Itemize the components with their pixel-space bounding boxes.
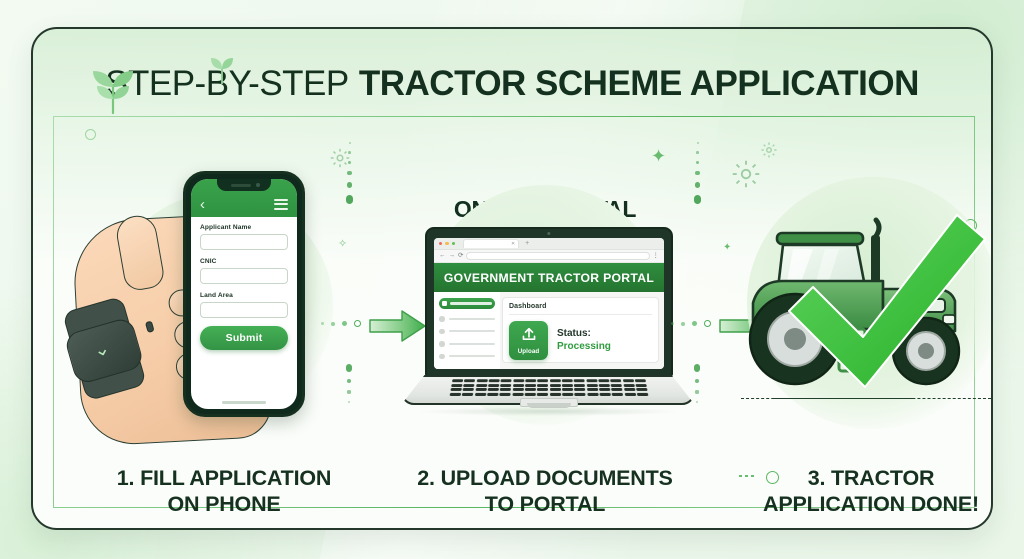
field-label-land-area: Land Area xyxy=(200,292,288,299)
page-title: STEP-BY-STEP TRACTOR SCHEME APPLICATION xyxy=(33,64,991,104)
arrow-1-dots xyxy=(321,320,361,327)
applicant-name-input[interactable] xyxy=(200,234,288,250)
tractor-icon xyxy=(721,191,993,401)
step-2-caption: 2. UPLOAD DOCUMENTS TO PORTAL xyxy=(380,465,710,517)
browser-tab[interactable]: ✕ xyxy=(463,239,519,248)
status-badge: Processing xyxy=(557,341,611,353)
decor-ring-small xyxy=(85,129,96,140)
dashboard-title: Dashboard xyxy=(509,303,652,310)
thumb-illustration xyxy=(114,213,166,293)
ground-solid-line xyxy=(773,398,913,399)
plus-icon[interactable]: + xyxy=(525,240,529,247)
dashboard-divider xyxy=(509,314,652,315)
tractor-scene xyxy=(721,191,993,421)
dashboard-panel: Dashboard xyxy=(502,297,659,363)
arrow-2-dots xyxy=(671,320,711,327)
reload-icon[interactable]: ⟳ xyxy=(458,253,463,260)
step-2-caption-line1: 2. UPLOAD DOCUMENTS xyxy=(380,465,710,491)
land-area-input[interactable] xyxy=(200,302,288,318)
traffic-light-red[interactable] xyxy=(439,242,442,245)
sidebar-item-3[interactable] xyxy=(439,329,495,335)
traffic-light-green[interactable] xyxy=(452,242,455,245)
arrow-left-icon[interactable]: ← xyxy=(439,253,446,260)
portal-header-title: GOVERNMENT TRACTOR PORTAL xyxy=(434,263,664,292)
address-input[interactable] xyxy=(466,252,649,260)
step-1-illustration: ⌄ ‹ Applicant Name CNIC xyxy=(71,157,371,447)
phone-home-indicator xyxy=(222,401,266,404)
field-label-cnic: CNIC xyxy=(200,258,288,265)
portal-body: Dashboard xyxy=(434,292,664,369)
step-1-caption-line2: ON PHONE xyxy=(59,491,389,517)
phone-notch xyxy=(217,179,271,191)
infographic-card: STEP-BY-STEP TRACTOR SCHEME APPLICATION xyxy=(31,27,993,530)
step-3-caption-line2: APPLICATION DONE! xyxy=(706,491,993,517)
smartphone-device: ‹ Applicant Name CNIC Land Area Submit xyxy=(183,171,305,417)
arrow-right-icon[interactable]: → xyxy=(449,253,456,260)
step-2-caption-line2: TO PORTAL xyxy=(380,491,710,517)
phone-screen: ‹ Applicant Name CNIC Land Area Submit xyxy=(191,179,297,409)
step-3-caption: 3. TRACTOR APPLICATION DONE! xyxy=(706,465,993,517)
sidebar-item-active[interactable] xyxy=(439,298,495,309)
sidebar-item-5[interactable] xyxy=(439,354,495,360)
sidebar-item-2[interactable] xyxy=(439,316,495,322)
chevron-left-icon[interactable]: ‹ xyxy=(200,197,205,212)
webcam-icon xyxy=(547,232,550,235)
traffic-light-yellow[interactable] xyxy=(445,242,448,245)
upload-button-label: Upload xyxy=(518,348,540,355)
page-title-light: STEP-BY-STEP xyxy=(105,64,349,103)
portal-sidebar xyxy=(434,292,500,369)
application-form: Applicant Name CNIC Land Area Submit xyxy=(191,217,297,350)
upload-button[interactable]: Upload xyxy=(509,321,548,360)
page-title-bold: TRACTOR SCHEME APPLICATION xyxy=(359,64,919,103)
upload-arrow-icon xyxy=(521,327,537,347)
laptop-device: ✕ + ← → ⟳ ⋮ GOVERNMENT TRACTOR PORTAL xyxy=(401,227,695,427)
status-block: Status: Processing xyxy=(557,328,611,352)
step-3-illustration xyxy=(721,157,993,447)
step-2-illustration: ✕ + ← → ⟳ ⋮ GOVERNMENT TRACTOR PORTAL xyxy=(395,157,695,447)
cnic-input[interactable] xyxy=(200,268,288,284)
laptop-keyboard xyxy=(450,379,649,396)
laptop-screen: ✕ + ← → ⟳ ⋮ GOVERNMENT TRACTOR PORTAL xyxy=(434,238,664,369)
kebab-menu-icon[interactable]: ⋮ xyxy=(653,253,660,260)
sidebar-item-4[interactable] xyxy=(439,341,495,347)
field-label-applicant-name: Applicant Name xyxy=(200,224,288,231)
step-1-caption-line1: 1. FILL APPLICATION xyxy=(59,465,389,491)
status-label: Status: xyxy=(557,328,611,340)
dashboard-content-row: Upload Status: Processing xyxy=(509,321,652,360)
submit-button[interactable]: Submit xyxy=(200,326,288,350)
browser-address-bar: ← → ⟳ ⋮ xyxy=(434,250,664,263)
laptop-lid: ✕ + ← → ⟳ ⋮ GOVERNMENT TRACTOR PORTAL xyxy=(425,227,673,377)
watch-hands: ⌄ xyxy=(91,339,112,362)
close-icon[interactable]: ✕ xyxy=(511,242,515,247)
laptop-shadow xyxy=(419,407,677,416)
dot-column-right xyxy=(694,142,701,204)
step-3-caption-line1: 3. TRACTOR xyxy=(706,465,993,491)
browser-titlebar: ✕ + xyxy=(434,238,664,250)
hamburger-menu-icon[interactable] xyxy=(274,199,288,210)
step-1-caption: 1. FILL APPLICATION ON PHONE xyxy=(59,465,389,517)
